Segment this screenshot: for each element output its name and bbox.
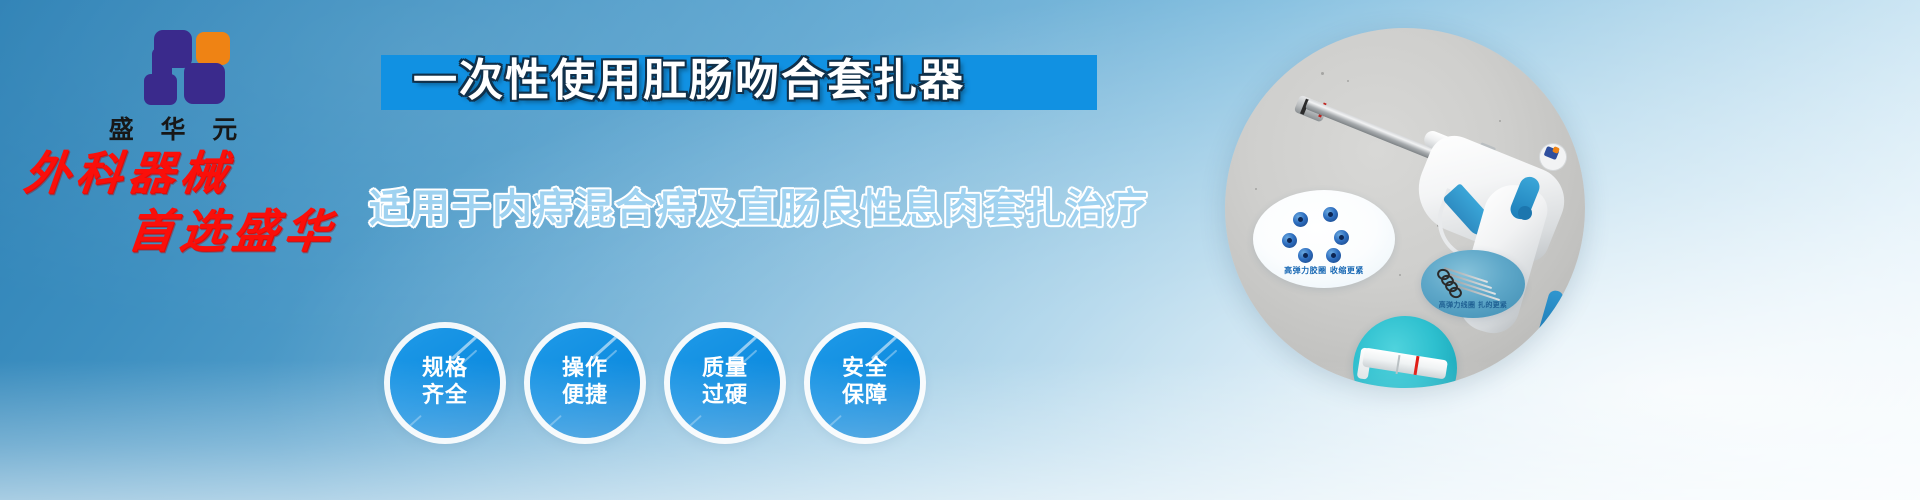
- oring-item: [1298, 248, 1313, 263]
- inset-applicator-photo: [1353, 316, 1457, 388]
- applicator-body: [1362, 348, 1448, 380]
- photo-speck: [1255, 188, 1257, 190]
- oring-item: [1282, 233, 1297, 248]
- feature-badge-1-line-1: 规格: [422, 356, 468, 383]
- feature-badge-2-line-2: 便捷: [562, 383, 608, 410]
- subtitle-text: 适用于内痔混合痔及直肠良性息肉套扎治疗: [369, 180, 1109, 238]
- inset-oring-photo: 高弹力胶圈 收缩更紧: [1253, 190, 1395, 288]
- shenghuayuan-block-logo-icon: [130, 30, 216, 104]
- feature-badge-3-line-1: 质量: [702, 356, 748, 383]
- gloss-highlight-tertiary-icon: [824, 415, 842, 431]
- ligator-thumb-button: [1518, 206, 1532, 220]
- photo-speck: [1347, 80, 1349, 82]
- brand-logo[interactable]: 盛 华 元: [78, 30, 268, 146]
- photo-speck: [1499, 120, 1501, 122]
- feature-badge-4[interactable]: 安全 保障: [810, 328, 920, 438]
- photo-speck: [1321, 72, 1324, 75]
- oring-item: [1323, 207, 1338, 222]
- headline-title: 一次性使用肛肠吻合套扎器: [413, 50, 1073, 112]
- oring-item: [1293, 212, 1308, 227]
- gloss-highlight-tertiary-icon: [404, 415, 422, 431]
- product-photo: 高弹力胶圈 收缩更紧 高弹力线圈 扎的更紧: [1225, 28, 1585, 388]
- feature-badge-2[interactable]: 操作 便捷: [530, 328, 640, 438]
- oring-item: [1334, 230, 1349, 245]
- feature-badge-1-line-2: 齐全: [422, 383, 468, 410]
- gloss-highlight-tertiary-icon: [544, 415, 562, 431]
- feature-badge-1[interactable]: 规格 齐全: [390, 328, 500, 438]
- brand-name: 盛 华 元: [78, 110, 268, 146]
- oring-item: [1326, 248, 1341, 263]
- inset-wire-loop-label: 高弹力线圈 扎的更紧: [1421, 300, 1525, 310]
- gloss-highlight-tertiary-icon: [684, 415, 702, 431]
- logo-bar-vertical: [152, 48, 172, 88]
- logo-square-orange: [196, 32, 230, 65]
- logo-square-bottom-right: [184, 63, 225, 104]
- ligator-blue-cable: [1536, 289, 1565, 343]
- feature-badge-4-line-2: 保障: [842, 383, 888, 410]
- promo-banner: 盛 华 元 外科器械 首选盛华 一次性使用肛肠吻合套扎器 适用于内痔混合痔及直肠…: [0, 0, 1920, 500]
- feature-badge-3[interactable]: 质量 过硬: [670, 328, 780, 438]
- bottom-fade-overlay: [0, 360, 1920, 500]
- feature-badge-2-line-1: 操作: [562, 356, 608, 383]
- feature-badge-4-line-1: 安全: [842, 356, 888, 383]
- photo-speck: [1399, 274, 1401, 276]
- inset-wire-loop-photo: 高弹力线圈 扎的更紧: [1421, 250, 1525, 318]
- inset-oring-label: 高弹力胶圈 收缩更紧: [1253, 265, 1395, 276]
- feature-badge-3-line-2: 过硬: [702, 383, 748, 410]
